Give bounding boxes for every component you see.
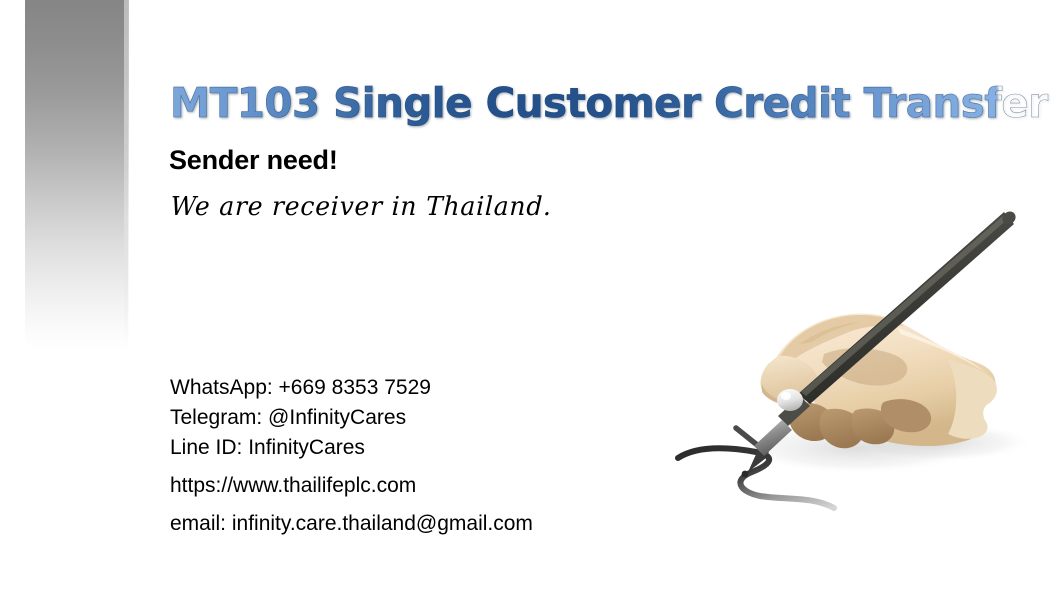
sender-heading: Sender need! (169, 145, 338, 176)
sidebar-gradient-edge (124, 0, 129, 352)
contact-telegram: Telegram: @InfinityCares (170, 403, 533, 433)
page-title: MT103 Single Customer Credit Transfer (170, 78, 997, 128)
slide-canvas: MT103 Single Customer Credit Transfer Se… (0, 0, 1063, 600)
contact-email[interactable]: email: infinity.care.thailand@gmail.com (170, 509, 533, 539)
page-title-container: MT103 Single Customer Credit Transfer (170, 78, 1010, 130)
receiver-script-note: We are receiver in Thailand. (170, 191, 552, 221)
sidebar-gradient-band (25, 0, 128, 352)
contact-whatsapp: WhatsApp: +669 8353 7529 (170, 373, 533, 403)
contact-line-id: Line ID: InfinityCares (170, 433, 533, 463)
hand-writing-with-pen-icon (648, 196, 1048, 526)
contact-website[interactable]: https://www.thailifeplc.com (170, 471, 533, 501)
contact-list: WhatsApp: +669 8353 7529 Telegram: @Infi… (170, 373, 533, 539)
